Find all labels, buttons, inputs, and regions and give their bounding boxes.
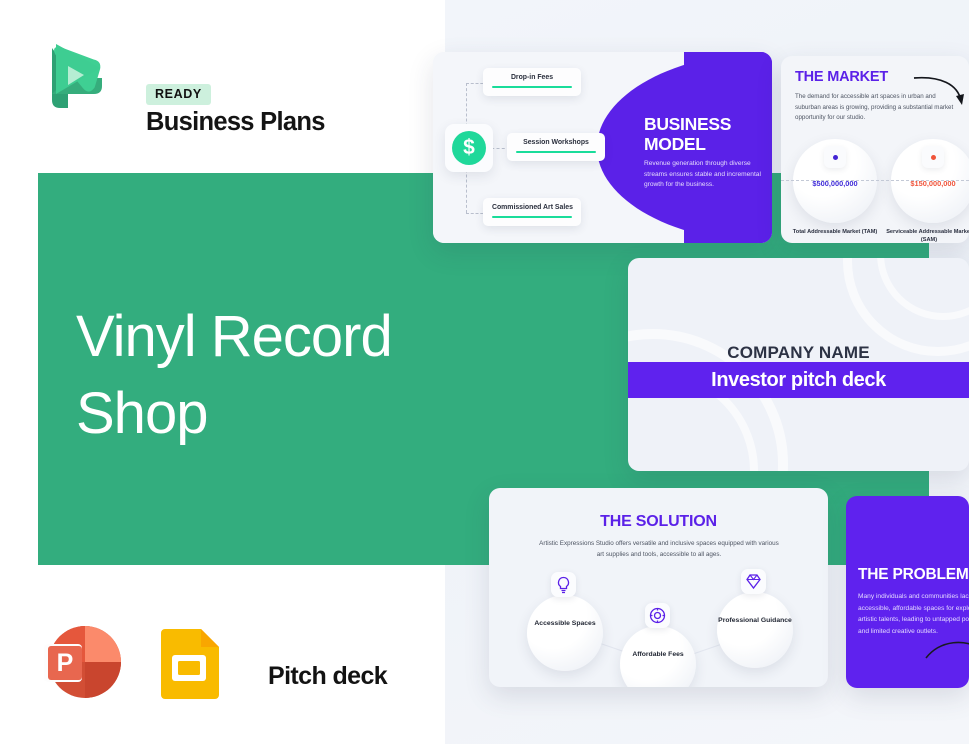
bm-item-1[interactable]: Session Workshops	[507, 133, 605, 161]
curved-swoosh-icon	[924, 636, 969, 662]
solution-description: Artistic Expressions Studio offers versa…	[539, 538, 779, 560]
solution-node-label: Affordable Fees	[620, 650, 696, 661]
brand-name: Business Plans	[146, 108, 325, 137]
svg-text:P: P	[57, 649, 74, 677]
pitch-deck-subtitle: Investor pitch deck	[628, 362, 969, 398]
bm-item-bar	[492, 216, 572, 218]
market-description: The demand for accessible art spaces in …	[795, 92, 955, 124]
bm-title: BUSINESS MODEL	[644, 115, 764, 154]
brand-name-text: Business Plans	[146, 108, 325, 136]
slide-solution[interactable]: THE SOLUTION Artistic Expressions Studio…	[489, 488, 828, 687]
green-play-logo-icon	[38, 36, 104, 112]
slide-company-name[interactable]: COMPANY NAME Investor pitch deck	[628, 258, 969, 471]
company-name-label: COMPANY NAME	[628, 343, 969, 363]
lightbulb-icon-card	[551, 572, 576, 597]
solution-title: THE SOLUTION	[489, 513, 828, 531]
slide-business-model[interactable]: $ Drop-in Fees Session Workshops Commiss…	[433, 52, 772, 243]
screenshot-root: READY Business Plans Vinyl Record Shop $…	[0, 0, 969, 744]
slide-market[interactable]: THE MARKET The demand for accessible art…	[781, 56, 969, 243]
target-icon	[645, 603, 670, 628]
bm-item-bar	[492, 86, 572, 88]
market-metric-caption: Total Addressable Market (TAM)	[787, 228, 883, 236]
solution-node-0: Accessible Spaces	[527, 595, 603, 671]
solution-node-1: Affordable Fees	[620, 626, 696, 687]
target-icon-card	[645, 603, 670, 628]
bm-item-0[interactable]: Drop-in Fees	[483, 68, 581, 96]
pitch-deck-band: Investor pitch deck	[628, 362, 969, 398]
market-dot-icon	[833, 155, 838, 160]
market-metric-0: $500,000,000	[793, 139, 877, 223]
lightbulb-icon	[551, 572, 576, 597]
bm-description: Revenue generation through diverse strea…	[644, 159, 764, 191]
problem-description: Many individuals and communities lack ac…	[858, 591, 969, 637]
market-metric-caption: Serviceable Addressable Market (SAM)	[881, 228, 969, 243]
solution-node-label: Professional Guidance	[717, 616, 793, 627]
ready-badge: READY	[146, 84, 211, 105]
page-title: Vinyl Record Shop	[76, 298, 476, 452]
market-dot-card	[922, 146, 944, 168]
google-slides-icon	[155, 625, 223, 699]
slide-problem[interactable]: THE PROBLEM Many individuals and communi…	[846, 496, 969, 688]
market-metric-1: $150,000,000	[891, 139, 969, 223]
microsoft-powerpoint-icon: P	[38, 620, 122, 704]
bm-item-label: Commissioned Art Sales	[492, 204, 572, 211]
bm-item-2[interactable]: Commissioned Art Sales	[483, 198, 581, 226]
bm-dollar-card: $	[445, 124, 493, 172]
diamond-icon	[741, 569, 766, 594]
solution-node-2: Professional Guidance	[717, 592, 793, 668]
market-dot-card	[824, 146, 846, 168]
diamond-icon-card	[741, 569, 766, 594]
market-dot-icon	[931, 155, 936, 160]
filetype-label: Pitch deck	[268, 662, 387, 691]
brand-logo: READY Business Plans	[38, 34, 338, 116]
market-connector	[781, 180, 969, 181]
bm-item-bar	[516, 151, 596, 153]
solution-node-label: Accessible Spaces	[527, 619, 603, 630]
bm-item-label: Drop-in Fees	[492, 74, 572, 81]
market-title: THE MARKET	[795, 69, 888, 85]
dollar-sign-icon: $	[452, 131, 486, 165]
problem-title: THE PROBLEM	[858, 566, 969, 584]
bm-item-label: Session Workshops	[516, 139, 596, 146]
